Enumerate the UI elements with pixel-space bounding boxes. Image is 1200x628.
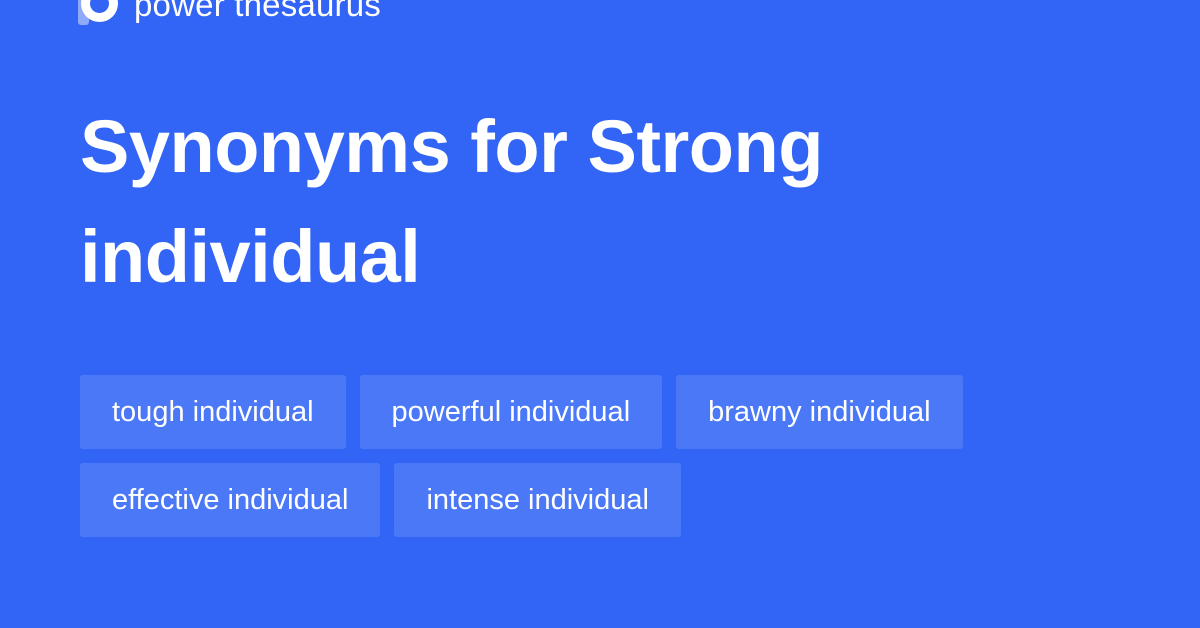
synonym-chip[interactable]: tough individual [80,375,346,449]
og-card: power thesaurus Synonyms for Strong indi… [0,0,1200,628]
power-thesaurus-p-logo-icon [78,0,118,25]
synonym-chip[interactable]: brawny individual [676,375,962,449]
brand-logo[interactable]: power thesaurus [78,0,381,28]
synonym-chip-list: tough individual powerful individual bra… [80,375,1120,537]
synonym-chip[interactable]: powerful individual [360,375,663,449]
brand-name: power thesaurus [134,0,381,25]
page-title: Synonyms for Strong individual [80,92,1020,312]
synonym-chip[interactable]: effective individual [80,463,380,537]
synonym-chip[interactable]: intense individual [394,463,680,537]
